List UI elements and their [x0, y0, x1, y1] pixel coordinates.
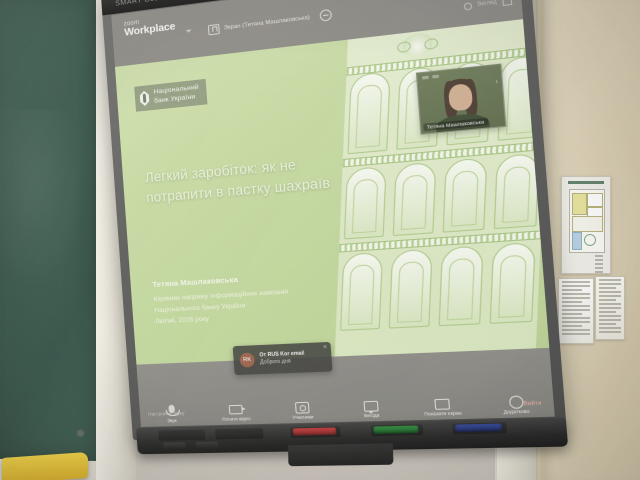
toolbar-item-video[interactable]: Почати відео — [212, 402, 261, 422]
chalkboard — [0, 0, 109, 461]
board-frame: SMART Board 10HKSLL zoom Workplace Экран… — [101, 0, 567, 440]
screen-share-indicator[interactable]: Экран (Тетяна Машлаковська) — [208, 9, 332, 36]
toolbar-label: Почати відео — [222, 416, 251, 422]
notice-sheet-right — [595, 276, 625, 340]
toolbar-label: Звук — [167, 418, 177, 423]
fullscreen-icon[interactable] — [463, 2, 472, 11]
yellow-object — [2, 452, 88, 480]
close-icon[interactable]: ✕ — [323, 344, 328, 351]
zoom-logo: zoom Workplace — [124, 15, 176, 39]
share-screen-icon — [434, 396, 450, 408]
notification-message: Доброго дня — [260, 358, 306, 367]
red-pen[interactable] — [293, 427, 337, 435]
board-brand-secondary: Board — [145, 0, 167, 3]
more-icon — [507, 394, 523, 407]
share-label: Экран (Тетяна Машлаковська) — [223, 14, 310, 31]
toolbar-item-participants[interactable]: Учасники — [277, 400, 328, 420]
toolbar-label: Учасники — [292, 414, 313, 420]
video-tile-controls — [422, 75, 439, 80]
chat-icon — [363, 399, 378, 411]
slide-presenter-block: Тетяна Машлаковська Керівник напряму інф… — [152, 267, 366, 328]
toolbar-label: Показати екран — [424, 410, 462, 416]
participants-icon — [295, 401, 310, 413]
slide-title: Легкий заробіток: як не потрапити в паст… — [144, 151, 345, 210]
nbu-logo-text: Національний банк України — [153, 84, 199, 106]
classroom-photo: SMART Board 10HKSLL zoom Workplace Экран… — [0, 0, 640, 480]
stop-share-icon[interactable] — [319, 9, 332, 22]
avatar: RK — [239, 353, 255, 368]
board-brand-primary: SMART — [115, 0, 142, 7]
view-label: Вигляд — [477, 0, 497, 8]
toolbar-item-chat[interactable]: Бесіда — [345, 398, 398, 419]
smart-board-logo: SMART Board — [115, 0, 167, 7]
view-controls[interactable]: Вигляд — [463, 0, 512, 11]
share-screen-icon — [208, 23, 220, 35]
nbu-logo: Національний банк України — [134, 79, 207, 112]
camera-icon — [229, 403, 243, 415]
board-screen[interactable]: zoom Workplace Экран (Тетяна Машлаковськ… — [111, 0, 555, 427]
smart-board: SMART Board 10HKSLL zoom Workplace Экран… — [101, 0, 574, 468]
shared-slide: Національний банк України Легкий заробіт… — [115, 19, 550, 366]
toolbar-item-audio[interactable]: Звук — [148, 404, 196, 424]
toolbar-item-share[interactable]: Показати екран — [415, 396, 469, 417]
chalkboard-knob — [76, 429, 85, 438]
microphone-icon — [164, 405, 178, 417]
chalk-smudge — [0, 109, 86, 291]
blue-pen[interactable] — [455, 424, 502, 433]
grid-view-icon[interactable] — [502, 0, 512, 6]
evacuation-plan — [561, 176, 611, 274]
chevron-down-icon[interactable] — [186, 29, 192, 33]
toolbar-label: Додатково — [503, 408, 529, 414]
building-crest — [402, 32, 432, 57]
board-mount-bracket — [288, 443, 393, 466]
video-tile-badge: 1 — [495, 78, 498, 84]
participant-video-tile[interactable]: 1 Тетяна Машлаковська — [416, 63, 507, 134]
green-pen[interactable] — [373, 425, 419, 434]
chat-notification-toast[interactable]: RK От RUS Kor email Доброго дня ✕ — [233, 342, 333, 375]
presenter-role: Керівник напряму інформаційних кампаній … — [153, 282, 366, 328]
leave-meeting-button[interactable]: Вийти — [523, 400, 542, 407]
nbu-emblem-icon — [140, 90, 150, 106]
